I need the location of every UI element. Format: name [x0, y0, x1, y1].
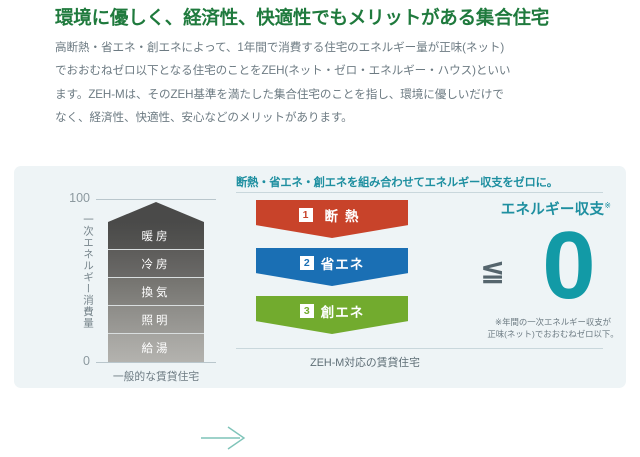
- axis-tick-min: 0: [56, 354, 90, 368]
- measure-label: 創エネ: [321, 301, 365, 321]
- measure-number-badge: 1: [299, 208, 313, 222]
- balance-value: 0: [518, 218, 618, 314]
- intro-section: 環境に優しく、経済性、快適性でもメリットがある集合住宅 高断熱・省エネ・創エネに…: [55, 6, 600, 129]
- axis-tick-max: 100: [56, 191, 90, 205]
- less-than-or-equal-icon: ≦: [480, 256, 505, 286]
- footnote-line: ※年間の一次エネルギー収支が: [478, 316, 628, 328]
- divider-top: [236, 192, 603, 193]
- axis-line-bottom: [96, 362, 216, 363]
- axis-line-top: [96, 199, 216, 200]
- chart-caption: 一般的な賃貸住宅: [96, 368, 216, 384]
- energy-balance-block: エネルギー収支※ ≦ 0 ※年間の一次エネルギー収支が 正味(ネット)でおおむね…: [478, 198, 626, 348]
- measure-label: 断熱: [320, 205, 366, 225]
- intro-line: でおおむねゼロ以下となる住宅のことをZEH(ネット・ゼロ・エネルギー・ハウス)と…: [55, 59, 600, 82]
- intro-line: ます。ZEH-Mは、そのZEH基準を満たした集合住宅のことを指し、環境に優しいだ…: [55, 83, 600, 106]
- measure-label: 省エネ: [321, 253, 365, 273]
- balance-title-mark: ※: [604, 201, 611, 210]
- measures-caption: ZEH-M対応の賃貸住宅: [236, 354, 494, 370]
- divider-bottom: [236, 348, 603, 349]
- measures-heading: 断熱・省エネ・創エネを組み合わせてエネルギー収支をゼロに。: [236, 174, 558, 190]
- transition-arrow-icon: [200, 424, 248, 452]
- balance-footnote: ※年間の一次エネルギー収支が 正味(ネット)でおおむねゼロ以下。: [478, 316, 628, 340]
- intro-body: 高断熱・省エネ・創エネによって、1年間で消費する住宅のエネルギー量が正味(ネット…: [55, 36, 600, 129]
- stacked-bar: 暖房 冷房 換気 照明 給湯: [108, 202, 204, 362]
- bar-segment-ventilation: 換気: [108, 278, 204, 306]
- measure-number-badge: 2: [300, 256, 314, 270]
- measure-item-energy-creation: 3 創エネ: [256, 296, 408, 334]
- bar-segment-cooling: 冷房: [108, 250, 204, 278]
- footnote-line: 正味(ネット)でおおむねゼロ以下。: [478, 328, 628, 340]
- y-axis-label: 一次エネルギー消費量: [78, 214, 93, 356]
- bar-segment-hotwater: 給湯: [108, 334, 204, 362]
- measure-item-energy-saving: 2 省エネ: [256, 248, 408, 286]
- page-title: 環境に優しく、経済性、快適性でもメリットがある集合住宅: [55, 6, 600, 29]
- house-roof-shape: [108, 202, 204, 222]
- diagram-panel: 100 0 一次エネルギー消費量 暖房 冷房 換気 照明 給湯 一般的な賃貸住宅…: [14, 166, 626, 388]
- energy-consumption-chart: 100 0 一次エネルギー消費量 暖房 冷房 換気 照明 給湯 一般的な賃貸住宅: [50, 176, 226, 376]
- measures-section: 断熱・省エネ・創エネを組み合わせてエネルギー収支をゼロに。 1 断熱 2 省エネ…: [226, 166, 626, 388]
- bar-segment-lighting: 照明: [108, 306, 204, 334]
- measure-number-badge: 3: [300, 304, 314, 318]
- bar-segment-heating: 暖房: [108, 222, 204, 250]
- intro-line: なく、経済性、快適性、安心などのメリットがあります。: [55, 106, 600, 129]
- intro-line: 高断熱・省エネ・創エネによって、1年間で消費する住宅のエネルギー量が正味(ネット…: [55, 36, 600, 59]
- measure-item-insulation: 1 断熱: [256, 200, 408, 238]
